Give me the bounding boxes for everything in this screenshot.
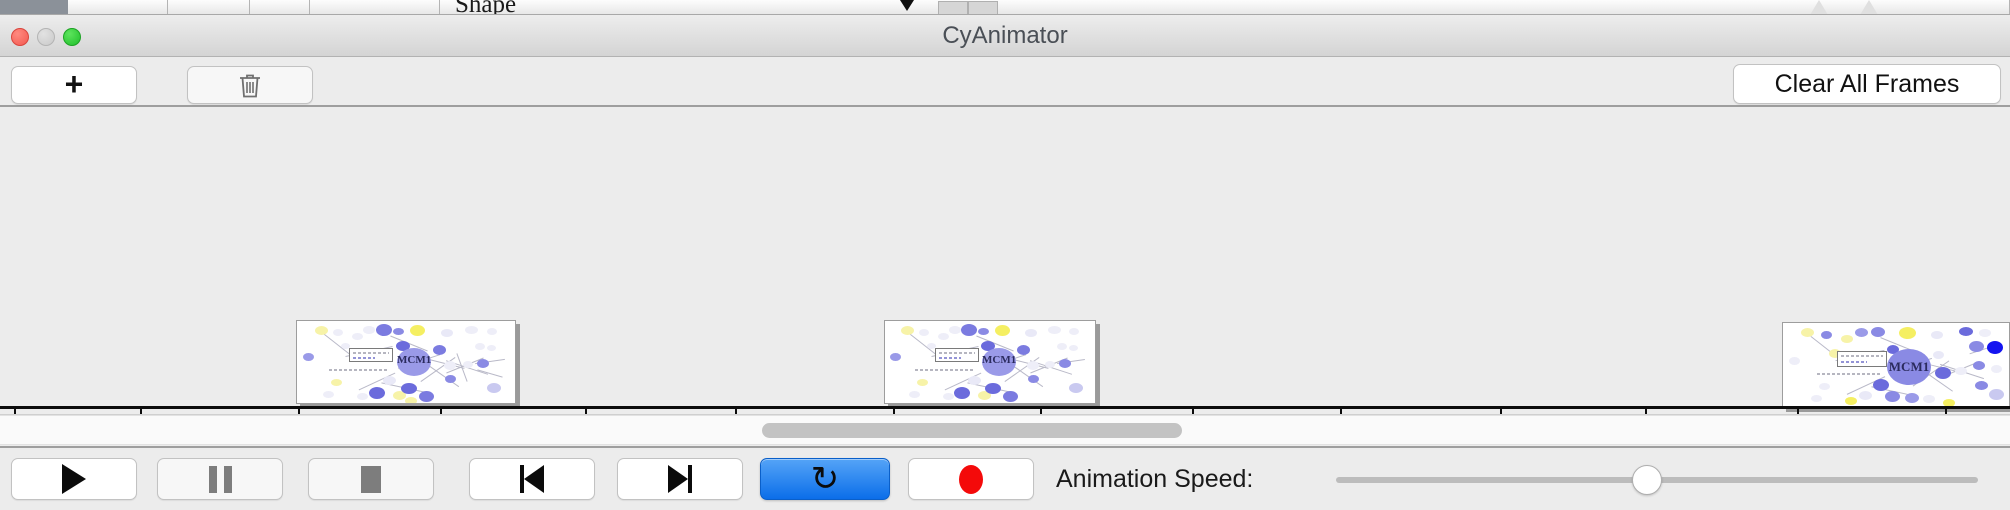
play-button[interactable] bbox=[11, 458, 137, 500]
timeline-scrollbar-thumb[interactable] bbox=[762, 423, 1182, 438]
record-icon bbox=[959, 465, 983, 494]
hub-node-label: MCM1 bbox=[397, 354, 431, 366]
list-item[interactable]: MCM1 bbox=[884, 320, 1096, 404]
skip-to-start-icon bbox=[520, 465, 544, 493]
toolbar: + Clear All Frames bbox=[0, 57, 2010, 107]
loop-icon: ↻ bbox=[811, 462, 840, 496]
node-tooltip bbox=[935, 348, 979, 362]
background-dark-segment bbox=[0, 0, 68, 15]
highlight-node bbox=[1987, 341, 2003, 354]
list-item[interactable]: MCM1 bbox=[1782, 322, 2010, 408]
stop-icon bbox=[361, 466, 381, 493]
pause-icon bbox=[209, 466, 232, 493]
page-title: CyAnimator bbox=[0, 15, 2010, 57]
minimize-icon[interactable] bbox=[37, 28, 55, 46]
background-window-strip: Shape bbox=[0, 0, 2010, 15]
network-thumbnail: MCM1 bbox=[297, 321, 515, 403]
clear-all-frames-label: Clear All Frames bbox=[1775, 70, 1960, 99]
animation-speed-label: Animation Speed: bbox=[1056, 458, 1253, 500]
list-item[interactable]: MCM1 bbox=[296, 320, 516, 404]
pause-button[interactable] bbox=[157, 458, 283, 500]
background-segment bbox=[310, 0, 440, 15]
playback-controls: ↻ Animation Speed: bbox=[0, 446, 2010, 510]
animation-speed-slider-thumb[interactable] bbox=[1632, 465, 1662, 495]
maximize-icon[interactable] bbox=[63, 28, 81, 46]
background-shape-label: Shape bbox=[455, 0, 516, 15]
background-segment bbox=[250, 0, 310, 15]
network-thumbnail: MCM1 bbox=[1783, 323, 2009, 407]
node-tooltip bbox=[349, 348, 393, 362]
loop-button[interactable]: ↻ bbox=[760, 458, 890, 500]
delete-frame-button[interactable] bbox=[187, 66, 313, 104]
background-caret-icon bbox=[900, 0, 914, 11]
skip-to-end-button[interactable] bbox=[617, 458, 743, 500]
cyanimator-window: Shape CyAnimator + Clear All Frames bbox=[0, 0, 2010, 510]
background-triangle bbox=[1860, 0, 1878, 15]
clear-all-frames-button[interactable]: Clear All Frames bbox=[1733, 64, 2001, 104]
ruler-baseline bbox=[0, 406, 2010, 409]
background-segment bbox=[190, 0, 250, 15]
record-button[interactable] bbox=[908, 458, 1034, 500]
hub-node-label: MCM1 bbox=[1887, 359, 1931, 375]
timeline-scrollbar-track[interactable] bbox=[0, 415, 2010, 445]
network-thumbnail: MCM1 bbox=[885, 321, 1095, 403]
close-icon[interactable] bbox=[11, 28, 29, 46]
skip-to-start-button[interactable] bbox=[469, 458, 595, 500]
background-triangle bbox=[1810, 0, 1828, 15]
add-frame-button[interactable]: + bbox=[11, 66, 137, 104]
plus-icon: + bbox=[65, 72, 84, 98]
play-icon bbox=[62, 464, 86, 494]
traffic-lights bbox=[11, 28, 81, 46]
skip-to-end-icon bbox=[668, 465, 692, 493]
background-segment bbox=[68, 0, 168, 15]
background-box bbox=[938, 1, 968, 15]
timeline-panel[interactable]: MCM1 bbox=[0, 109, 2010, 415]
stop-button[interactable] bbox=[308, 458, 434, 500]
background-segment bbox=[1900, 0, 2010, 15]
background-box bbox=[968, 1, 998, 15]
timeline-ruler[interactable]: 2 13 14 15 16 17 18 Seconds bbox=[0, 406, 2010, 415]
trash-icon bbox=[237, 71, 263, 99]
title-bar: CyAnimator bbox=[0, 15, 2010, 57]
node-tooltip bbox=[1837, 351, 1887, 367]
hub-node-label: MCM1 bbox=[982, 354, 1016, 366]
